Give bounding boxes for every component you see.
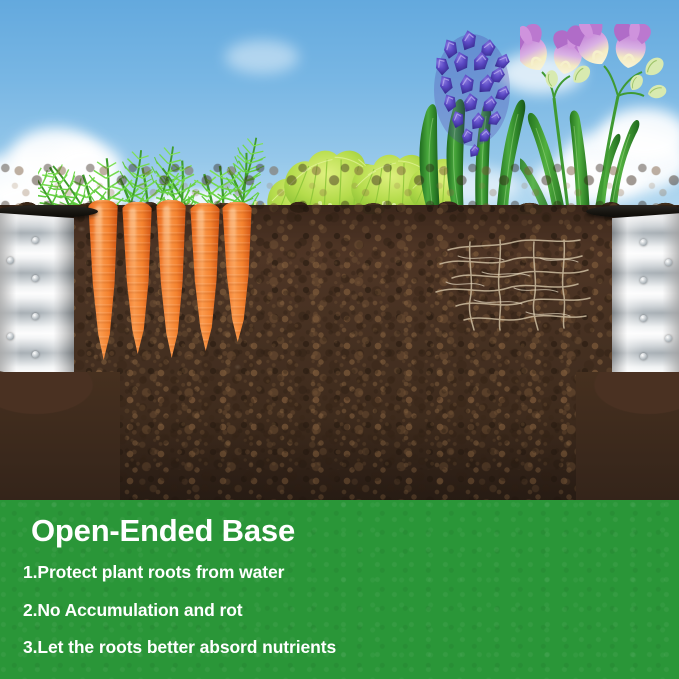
screw-icon bbox=[7, 333, 14, 340]
carrot-highlight bbox=[197, 209, 204, 307]
feature-list: 1.Protect plant roots from water 2.No Ac… bbox=[23, 564, 336, 677]
carrot-highlight bbox=[129, 208, 136, 308]
screw-icon bbox=[665, 335, 672, 342]
product-feature-image: Open-Ended Base 1.Protect plant roots fr… bbox=[0, 0, 679, 679]
carrot-highlight bbox=[95, 206, 102, 314]
carrot-root bbox=[120, 202, 154, 354]
screw-icon bbox=[640, 315, 647, 322]
carrot-texture bbox=[86, 200, 120, 360]
screw-icon bbox=[32, 275, 39, 282]
garden-bed-scene bbox=[0, 0, 679, 500]
carrot-texture bbox=[120, 202, 154, 354]
carrot-root bbox=[220, 202, 254, 342]
screw-icon bbox=[640, 353, 647, 360]
carrot-root bbox=[188, 203, 222, 351]
carrot-texture bbox=[220, 202, 254, 342]
metal-bed-wall-right bbox=[612, 213, 679, 385]
feature-list-item: 3.Let the roots better absord nutrients bbox=[23, 639, 336, 657]
carrot-root bbox=[154, 200, 188, 358]
screw-icon bbox=[7, 257, 14, 264]
feature-banner: Open-Ended Base 1.Protect plant roots fr… bbox=[0, 500, 679, 679]
soil-foreground-left bbox=[0, 372, 120, 500]
plant-roots bbox=[430, 238, 620, 334]
screw-icon bbox=[32, 351, 39, 358]
screw-icon bbox=[640, 277, 647, 284]
screw-icon bbox=[32, 313, 39, 320]
soil-foreground-right bbox=[576, 372, 679, 500]
carrot-texture bbox=[188, 203, 222, 351]
carrot-root bbox=[86, 200, 120, 360]
carrot-texture bbox=[154, 200, 188, 358]
screw-icon bbox=[665, 259, 672, 266]
feature-list-item: 1.Protect plant roots from water bbox=[23, 564, 336, 582]
carrot-highlight bbox=[163, 206, 170, 310]
carrot-highlight bbox=[229, 208, 236, 300]
metal-bed-wall-left bbox=[0, 213, 74, 385]
screw-icon bbox=[640, 239, 647, 246]
screw-icon bbox=[32, 237, 39, 244]
feature-list-item: 2.No Accumulation and rot bbox=[23, 602, 336, 620]
banner-title: Open-Ended Base bbox=[31, 513, 295, 549]
